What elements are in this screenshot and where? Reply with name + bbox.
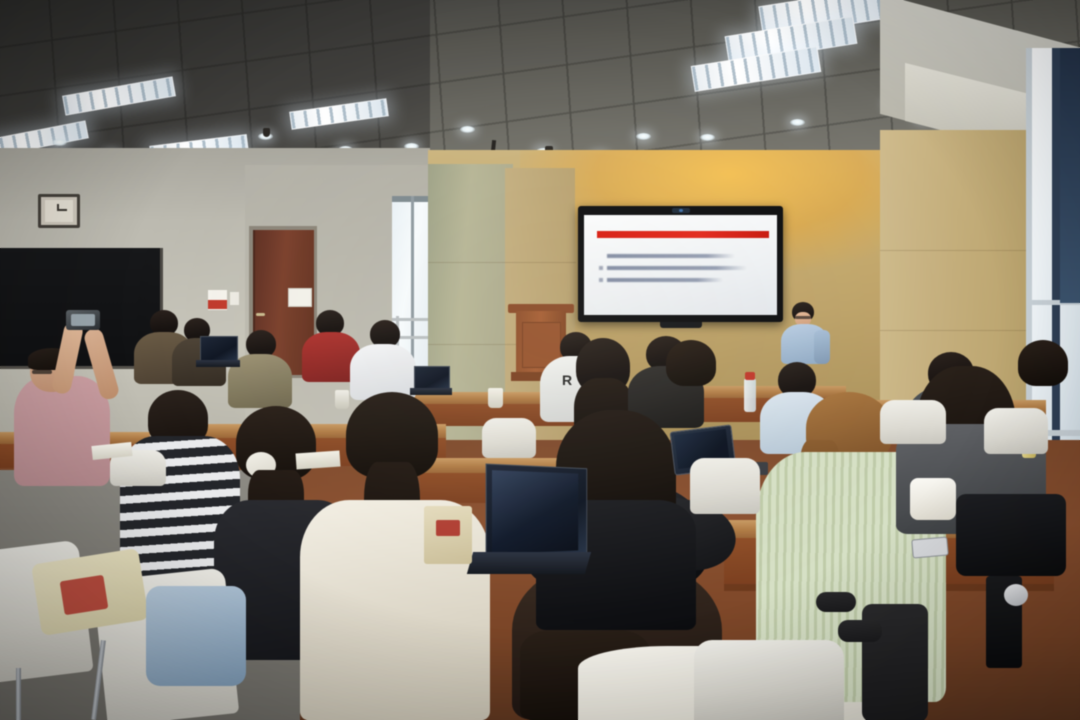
wood-panel-seam bbox=[428, 262, 576, 263]
camera-phone-screen bbox=[71, 314, 95, 326]
cream-bag-logo bbox=[60, 575, 109, 615]
stacking-chair[interactable] bbox=[984, 408, 1048, 454]
office-chair-armrest[interactable] bbox=[838, 620, 882, 642]
notebook[interactable] bbox=[295, 450, 340, 469]
ceiling-downlight bbox=[636, 133, 651, 140]
ceiling-downlight bbox=[460, 126, 475, 133]
laptop-keyboard-base bbox=[196, 360, 240, 367]
slide-bullet-line bbox=[607, 254, 735, 258]
caption bbox=[0, 716, 1080, 720]
blue-jacket bbox=[146, 586, 246, 686]
glasses-icon bbox=[795, 316, 811, 319]
tote-bag-logo bbox=[436, 520, 460, 536]
laptop-keyboard-base bbox=[410, 388, 452, 395]
glasses-icon bbox=[32, 370, 52, 374]
smartphone[interactable] bbox=[911, 536, 949, 558]
wall-clock bbox=[38, 194, 80, 228]
shirt-letter: R bbox=[562, 372, 574, 388]
clock-face bbox=[45, 200, 73, 222]
door-notice-paper bbox=[288, 288, 312, 307]
wall-sign-secondary bbox=[230, 292, 239, 305]
stacking-chair[interactable] bbox=[694, 640, 844, 720]
clock-minute-hand bbox=[58, 209, 67, 211]
stacking-chair[interactable] bbox=[482, 418, 536, 458]
photo-scene: R bbox=[0, 0, 1080, 720]
paper-cup[interactable] bbox=[335, 390, 349, 409]
ceiling-downlight bbox=[700, 134, 715, 141]
ceiling-downlight bbox=[790, 119, 805, 126]
chair-leg bbox=[16, 668, 21, 720]
bag-charm bbox=[1004, 584, 1028, 606]
slide-bullet-line bbox=[607, 278, 723, 282]
office-chair-armrest[interactable] bbox=[816, 592, 856, 612]
tissue-pack[interactable] bbox=[910, 478, 956, 520]
wall-sign-red-band bbox=[208, 300, 227, 309]
wood-panel-seam bbox=[880, 330, 1030, 331]
ceiling-downlight bbox=[52, 139, 67, 146]
slide-bullet-line bbox=[607, 266, 747, 270]
window-mullion bbox=[411, 196, 414, 371]
attendee-body-white-shirt bbox=[350, 344, 416, 400]
paper-cup[interactable] bbox=[488, 388, 503, 408]
display-stand bbox=[660, 322, 702, 328]
door-handle[interactable] bbox=[256, 313, 265, 316]
stacking-chair[interactable] bbox=[690, 458, 760, 514]
window-outer-pane bbox=[1060, 48, 1080, 303]
water-bottle[interactable] bbox=[744, 378, 756, 412]
camera-lens-icon bbox=[679, 209, 683, 212]
bottle-cap-red bbox=[745, 372, 755, 380]
tablet-attendee-head bbox=[666, 340, 716, 386]
wood-panel-seam bbox=[880, 250, 1030, 251]
laptop-keyboard-base bbox=[467, 552, 591, 574]
shoulder-bag[interactable] bbox=[956, 494, 1066, 576]
ceiling-speaker bbox=[263, 128, 270, 137]
stacking-chair[interactable] bbox=[880, 400, 946, 444]
presenter-arm bbox=[814, 330, 830, 364]
laptop-wallpaper bbox=[492, 470, 578, 554]
slide-title-rule bbox=[597, 231, 769, 238]
slide-bullet-list bbox=[607, 254, 757, 290]
attendee-head bbox=[1018, 340, 1068, 386]
